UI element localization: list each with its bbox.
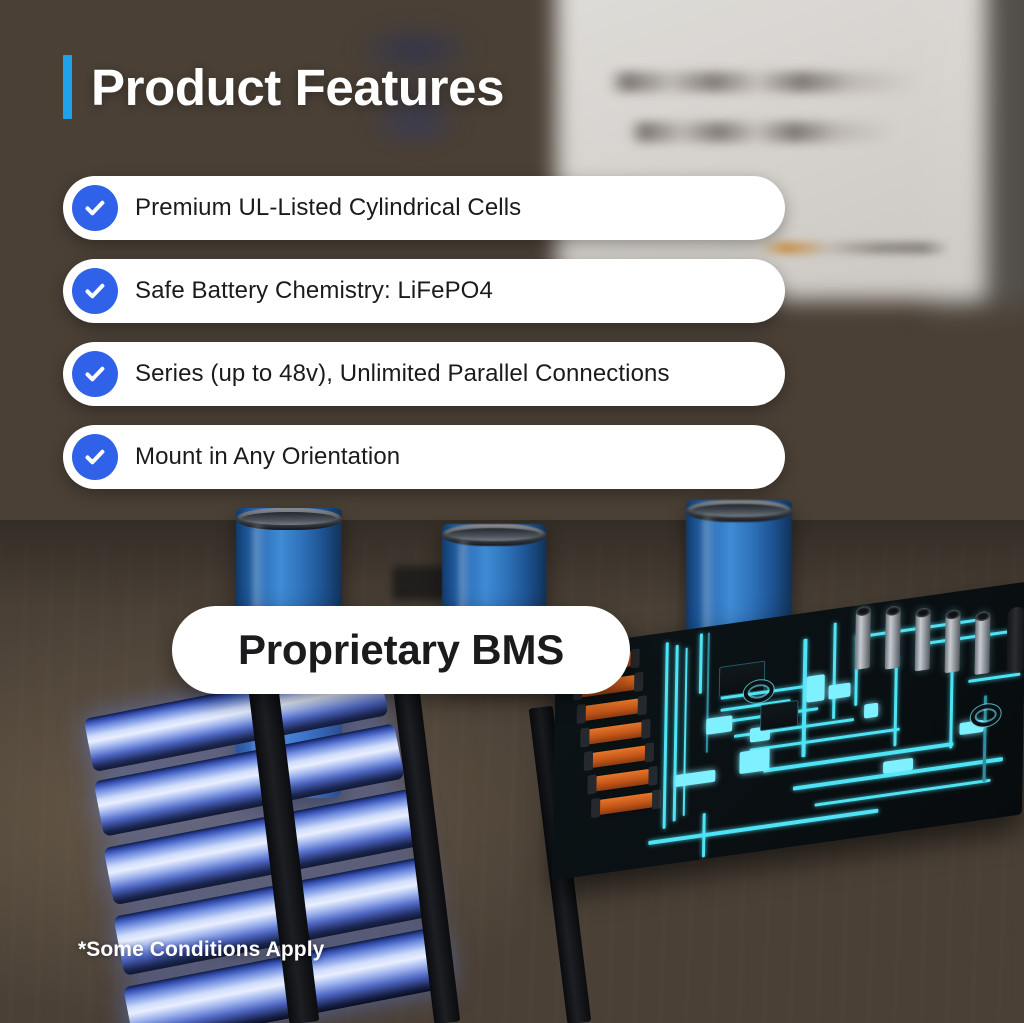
- cell-rim: [448, 528, 540, 541]
- page-title: Product Features: [91, 62, 504, 113]
- resistor: [588, 722, 642, 745]
- pcb-trace: [893, 656, 898, 747]
- pin-hole: [886, 605, 901, 616]
- resistor: [599, 792, 653, 815]
- pin-hole: [945, 609, 960, 620]
- header-pin: [945, 609, 961, 673]
- bms-callout-label: Proprietary BMS: [238, 626, 564, 674]
- page-title-block: Product Features: [63, 55, 504, 119]
- feature-list: Premium UL-Listed Cylindrical Cells Safe…: [63, 176, 785, 508]
- pin-hole: [916, 607, 931, 618]
- header-pin: [885, 605, 901, 669]
- resistor: [595, 769, 649, 792]
- background-clip-object: [392, 566, 448, 600]
- pcb-trace: [832, 622, 837, 719]
- feature-item-chemistry: Safe Battery Chemistry: LiFePO4: [63, 259, 785, 323]
- pcb-trace: [673, 645, 679, 822]
- solder-pad: [675, 770, 715, 788]
- solder-pad: [706, 715, 732, 735]
- feature-item-premium-cells: Premium UL-Listed Cylindrical Cells: [63, 176, 785, 240]
- feature-item-series-parallel: Series (up to 48v), Unlimited Parallel C…: [63, 342, 785, 406]
- pin-hole: [975, 611, 990, 622]
- solder-pad: [739, 748, 769, 774]
- bms-callout-pill: Proprietary BMS: [172, 606, 630, 694]
- pcb-trace: [702, 813, 706, 858]
- feature-label: Series (up to 48v), Unlimited Parallel C…: [135, 360, 670, 388]
- capacitor: [1006, 606, 1024, 673]
- pcb-trace: [699, 633, 703, 694]
- check-icon: [72, 268, 118, 314]
- solder-pad: [828, 682, 850, 699]
- check-icon: [72, 351, 118, 397]
- product-photograph: mAh 211031: [0, 0, 1024, 1023]
- pcb-trace: [663, 642, 669, 829]
- check-icon: [72, 434, 118, 480]
- inductor-coil: [969, 701, 1001, 730]
- poster-text-line-1: [608, 72, 920, 92]
- solder-pad: [864, 703, 878, 719]
- feature-label: Safe Battery Chemistry: LiFePO4: [135, 277, 493, 305]
- solder-pad: [806, 674, 824, 703]
- feature-label: Mount in Any Orientation: [135, 443, 400, 471]
- cell-rim: [242, 512, 335, 525]
- header-pin: [915, 607, 931, 671]
- check-icon: [72, 185, 118, 231]
- feature-label: Premium UL-Listed Cylindrical Cells: [135, 194, 521, 222]
- product-feature-graphic: mAh 211031: [0, 0, 1024, 1023]
- title-accent-bar: [63, 55, 72, 119]
- pcb-trace: [706, 632, 710, 753]
- feature-item-mount-orientation: Mount in Any Orientation: [63, 425, 785, 489]
- resistor: [592, 745, 646, 768]
- poster-text-line-2: [628, 122, 896, 142]
- header-pin: [855, 606, 871, 670]
- pcb-trace: [683, 647, 688, 816]
- poster-text-line-3: [760, 242, 950, 254]
- header-pin: [974, 611, 990, 675]
- footnote-disclaimer: *Some Conditions Apply: [78, 938, 324, 962]
- integrated-circuit: [760, 700, 798, 731]
- pin-hole: [856, 606, 871, 617]
- pcb-trace: [921, 629, 1015, 645]
- resistor: [585, 698, 639, 721]
